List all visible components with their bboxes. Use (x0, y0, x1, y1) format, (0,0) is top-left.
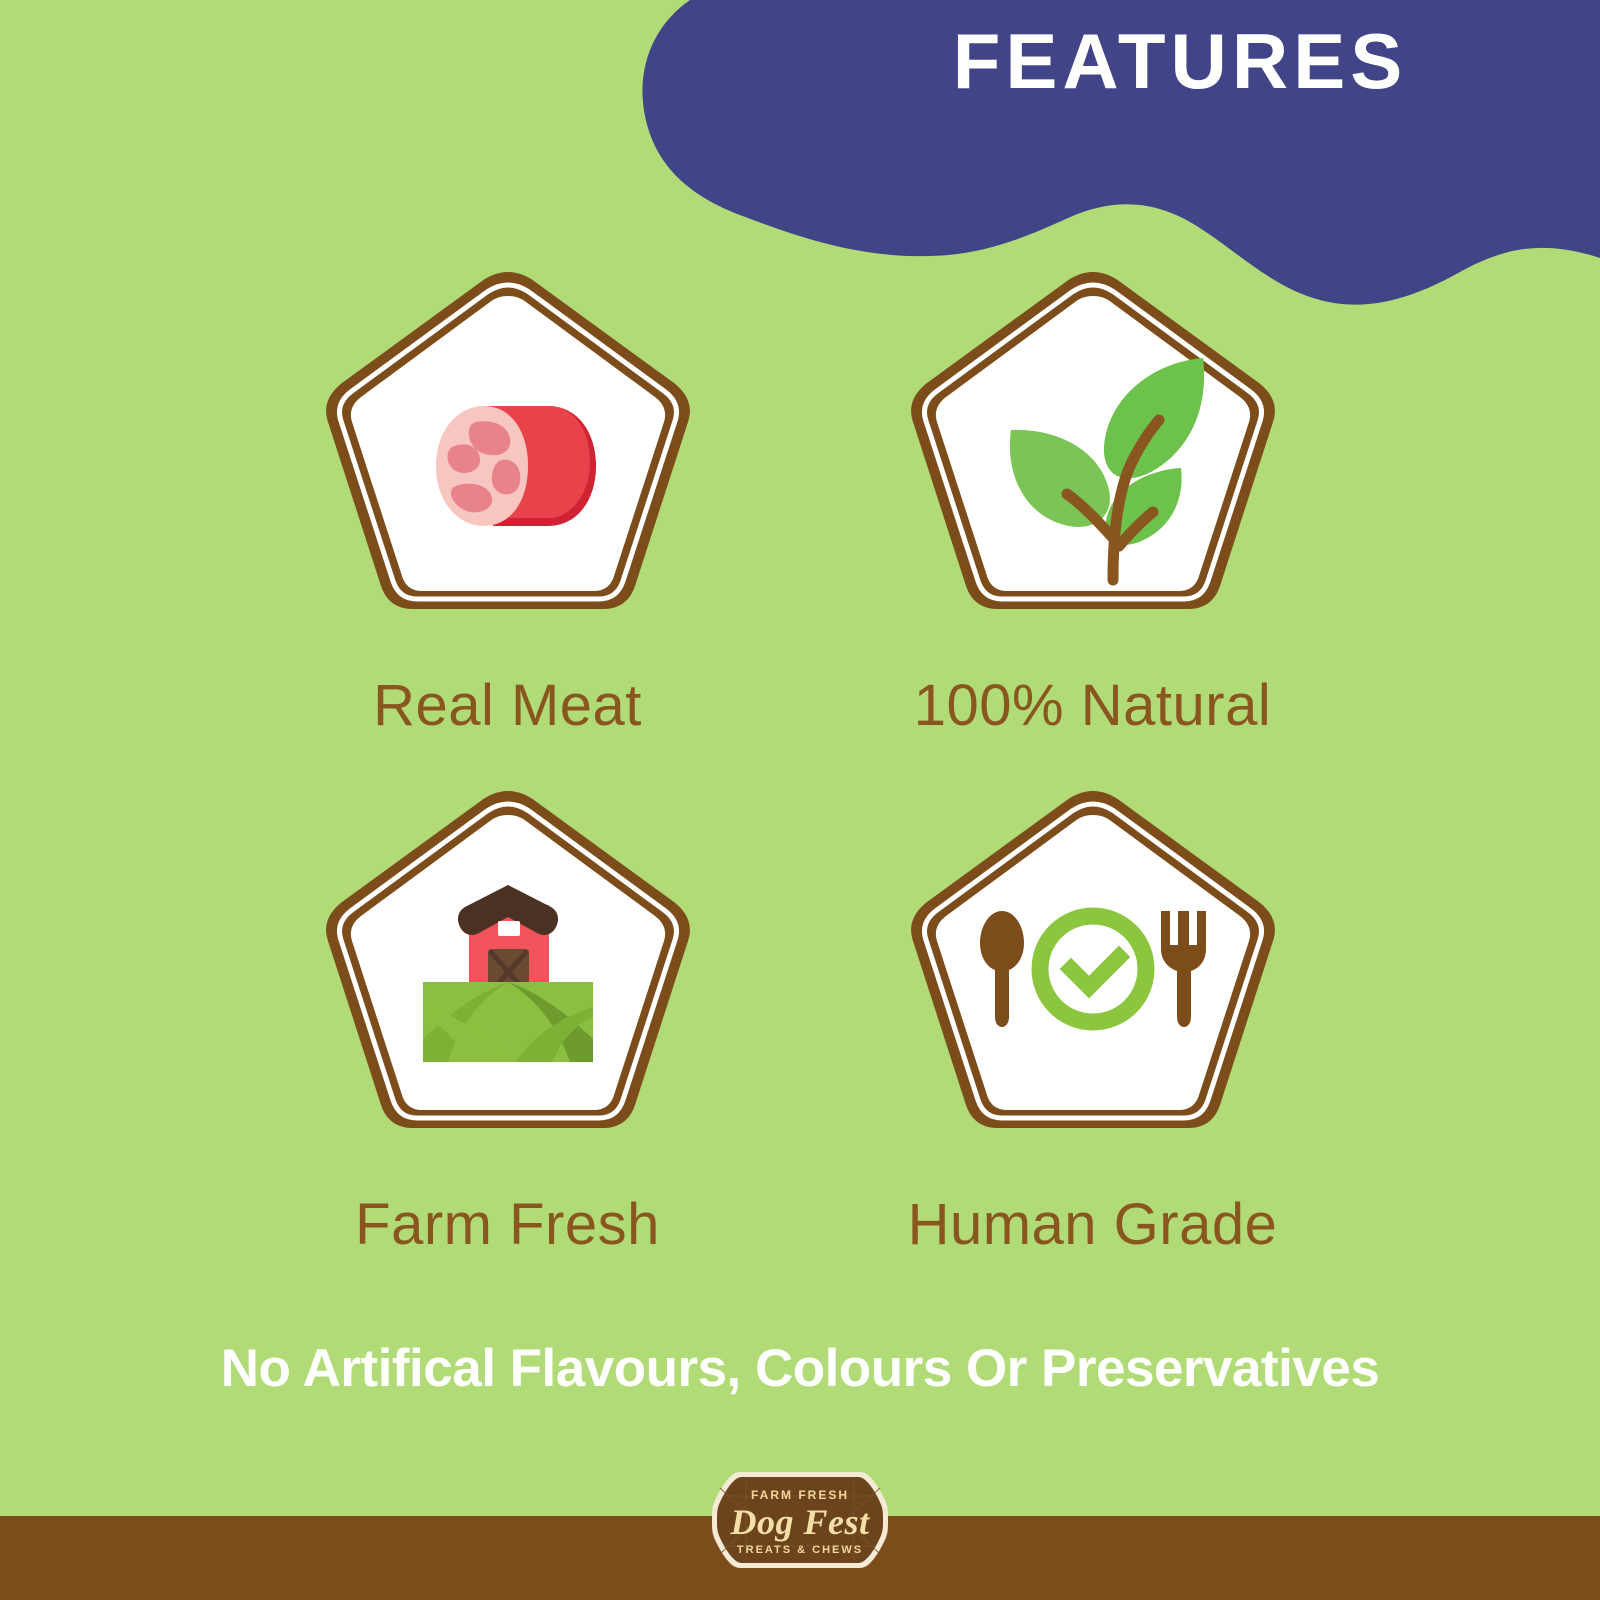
features-grid: Real Meat (260, 258, 1340, 1256)
feature-label-real-meat: Real Meat (373, 676, 642, 737)
feature-item-farm-fresh[interactable]: Farm Fresh (260, 777, 755, 1256)
badge-100-natural (893, 258, 1293, 658)
logo-main-text: Dog Fest (706, 1501, 894, 1543)
badge-human-grade (893, 777, 1293, 1177)
badge-farm-fresh (308, 777, 708, 1177)
tagline-text: No Artifical Flavours, Colours Or Preser… (0, 1338, 1600, 1399)
feature-item-100-natural[interactable]: 100% Natural (845, 258, 1340, 737)
logo-top-text: FARM FRESH (706, 1488, 894, 1502)
feature-label-human-grade: Human Grade (908, 1195, 1278, 1256)
logo-bottom-text: TREATS & CHEWS (706, 1544, 894, 1556)
brand-logo[interactable]: FARM FRESH Dog Fest TREATS & CHEWS (706, 1468, 894, 1572)
feature-label-100-natural: 100% Natural (914, 676, 1271, 737)
badge-real-meat (308, 258, 708, 658)
infographic-canvas: FEATURES (0, 0, 1600, 1600)
page-title: FEATURES (780, 22, 1580, 100)
meat-icon (436, 406, 596, 526)
feature-label-farm-fresh: Farm Fresh (355, 1195, 660, 1256)
feature-item-human-grade[interactable]: Human Grade (845, 777, 1340, 1256)
feature-item-real-meat[interactable]: Real Meat (260, 258, 755, 737)
